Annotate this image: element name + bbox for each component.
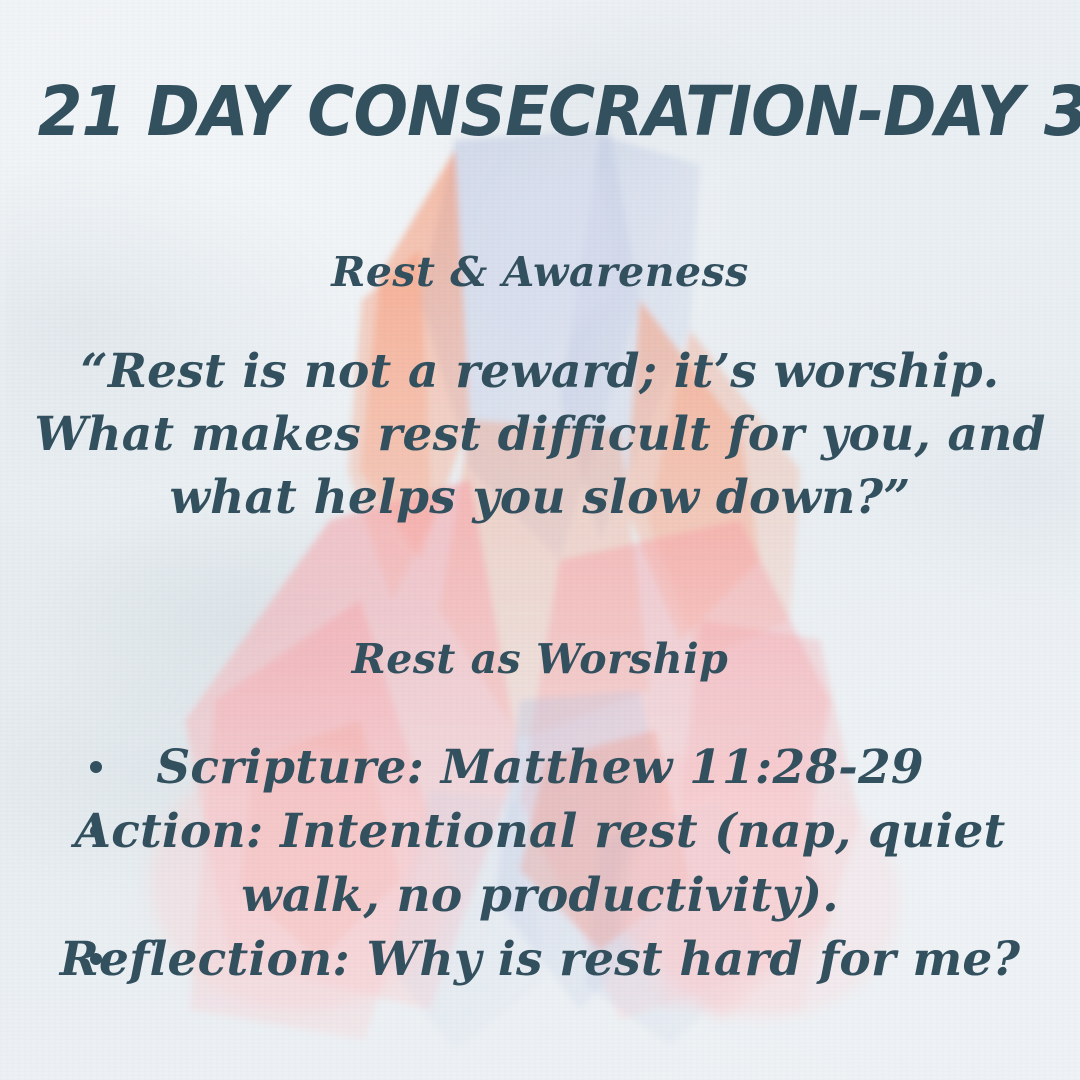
section-heading-rest-as-worship: Rest as Worship <box>0 635 1080 683</box>
quote-line-3: what helps you slow down?” <box>28 466 1052 529</box>
devotional-quote: “Rest is not a reward; it’s worship. Wha… <box>28 340 1052 529</box>
list-item: Reflection: Why is rest hard for me? <box>0 928 1080 992</box>
quote-line-2: What makes rest difficult for you, and <box>28 403 1052 466</box>
bullet-dot-icon <box>90 953 102 965</box>
bullet-dot-icon <box>90 825 102 837</box>
quote-line-1: “Rest is not a reward; it’s worship. <box>28 340 1052 403</box>
list-item-label: Action: Intentional rest (nap, quiet wal… <box>34 800 1046 928</box>
list-item: Scripture: Matthew 11:28-29 <box>0 736 1080 800</box>
list-item: Action: Intentional rest (nap, quiet wal… <box>0 800 1080 928</box>
post-canvas: 21 DAY CONSECRATION-DAY 3 Rest & Awarene… <box>0 0 1080 1080</box>
list-item-label: Reflection: Why is rest hard for me? <box>34 928 1046 992</box>
page-title: 21 DAY CONSECRATION-DAY 3 <box>38 76 1042 148</box>
list-item-label: Scripture: Matthew 11:28-29 <box>34 736 1046 800</box>
practice-list: Scripture: Matthew 11:28-29 Action: Inte… <box>0 736 1080 992</box>
post-content: 21 DAY CONSECRATION-DAY 3 Rest & Awarene… <box>0 0 1080 1080</box>
bullet-dot-icon <box>90 761 102 773</box>
section-heading-rest-awareness: Rest & Awareness <box>0 248 1080 296</box>
